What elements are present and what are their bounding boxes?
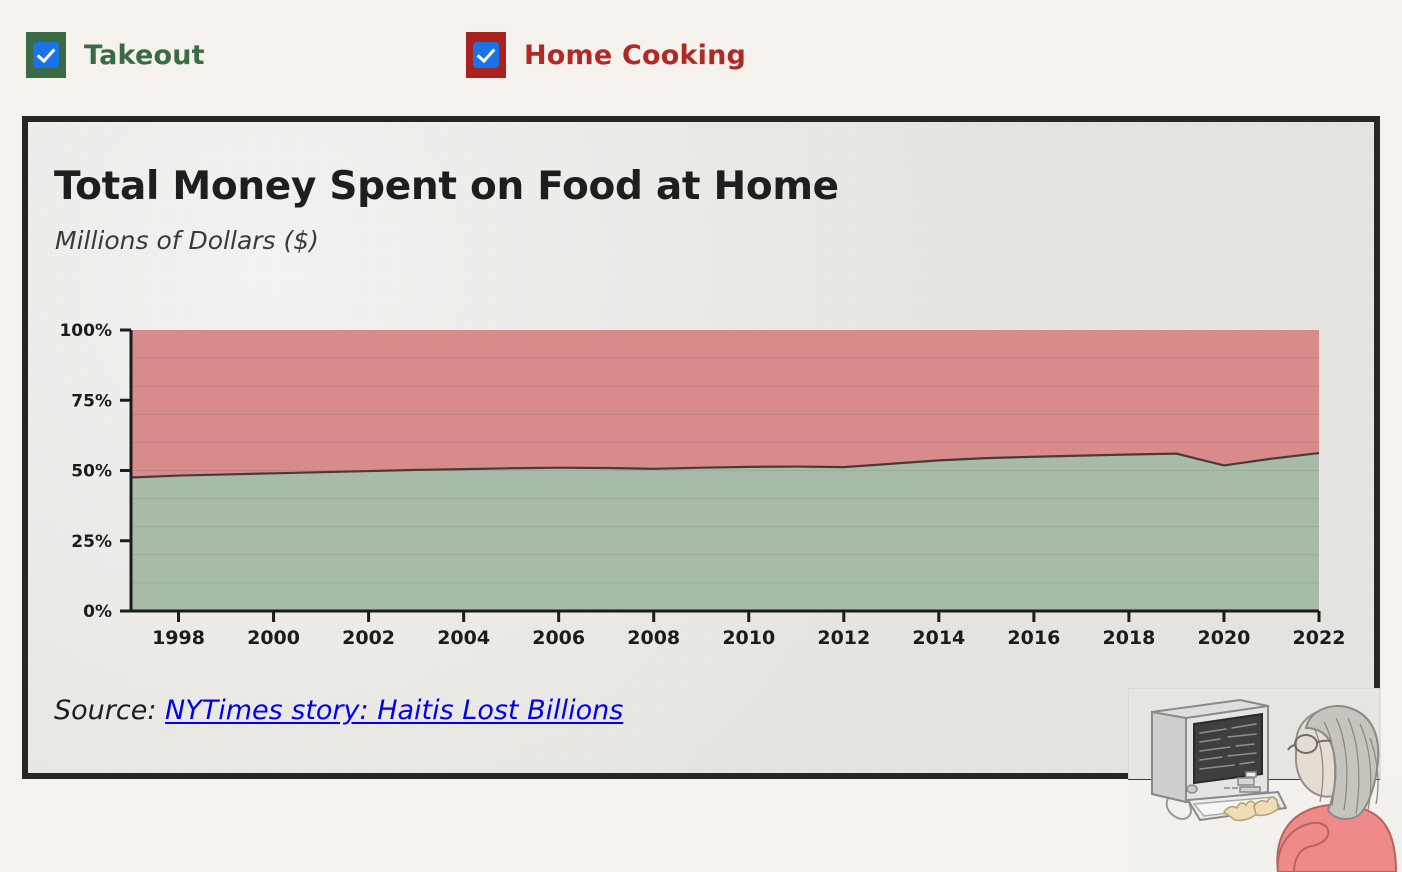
stacked-area-chart[interactable]: 0%25%50%75%100%1998200020022004200620082…: [28, 122, 1386, 785]
y-tick-label: 0%: [83, 602, 112, 622]
x-tick-label: 2020: [1198, 627, 1251, 649]
legend-bar: Takeout Home Cooking: [0, 0, 1402, 110]
source-link[interactable]: NYTimes story: Haitis Lost Billions: [165, 695, 623, 726]
x-tick-label: 2010: [722, 627, 775, 649]
x-tick-label: 2012: [817, 627, 870, 649]
plot-area[interactable]: 0%25%50%75%100%1998200020022004200620082…: [28, 122, 1386, 785]
y-tick-label: 25%: [71, 532, 112, 552]
y-tick-label: 75%: [71, 391, 112, 411]
x-tick-label: 2000: [247, 627, 300, 649]
legend-item-takeout[interactable]: Takeout: [26, 32, 205, 78]
x-tick-label: 2002: [342, 627, 395, 649]
x-tick-label: 2014: [912, 627, 965, 649]
legend-label-home-cooking: Home Cooking: [524, 40, 746, 71]
x-axis-ticks: 1998200020022004200620082010201220142016…: [152, 611, 1345, 649]
legend-label-takeout: Takeout: [84, 40, 205, 71]
source-prefix: Source:: [54, 695, 165, 726]
x-tick-label: 2008: [627, 627, 680, 649]
y-tick-label: 50%: [71, 462, 112, 482]
x-tick-label: 2018: [1102, 627, 1155, 649]
x-tick-label: 2004: [437, 627, 490, 649]
checkbox-checked-icon[interactable]: [26, 32, 66, 78]
checkmark-icon: [473, 42, 499, 68]
checkmark-icon: [33, 42, 59, 68]
checkbox-checked-icon[interactable]: [466, 32, 506, 78]
y-axis-ticks: 0%25%50%75%100%: [59, 321, 131, 622]
x-tick-label: 2006: [532, 627, 585, 649]
x-tick-label: 2016: [1007, 627, 1060, 649]
x-tick-label: 2022: [1293, 627, 1346, 649]
source-note: Source: NYTimes story: Haitis Lost Billi…: [54, 695, 623, 726]
chart-card: Total Money Spent on Food at Home Millio…: [22, 116, 1380, 779]
y-tick-label: 100%: [59, 321, 112, 341]
legend-item-home-cooking[interactable]: Home Cooking: [466, 32, 746, 78]
x-tick-label: 1998: [152, 627, 205, 649]
area-series-home-cooking[interactable]: [131, 453, 1319, 611]
